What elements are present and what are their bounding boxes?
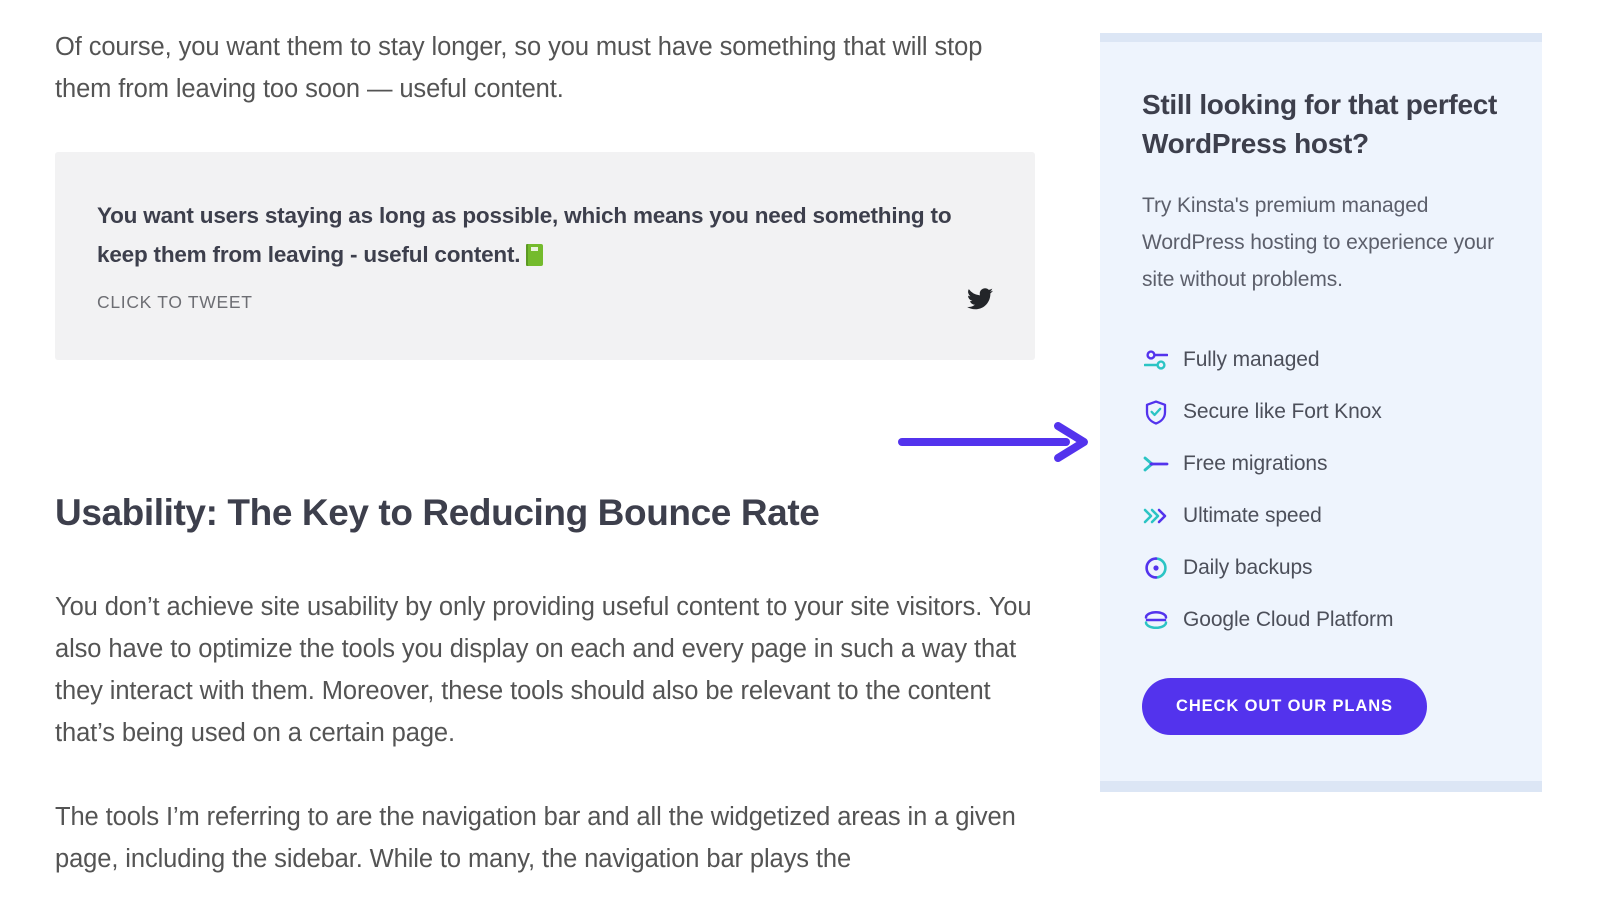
feature-label: Daily backups (1183, 556, 1312, 580)
list-item: Ultimate speed (1142, 490, 1520, 542)
body-paragraph-1-wrapper: You don’t achieve site usability by only… (55, 586, 1040, 754)
double-chevron-icon (1142, 503, 1170, 529)
list-item: Daily backups (1142, 542, 1520, 594)
section-heading: Usability: The Key to Reducing Bounce Ra… (55, 492, 819, 534)
list-item: Secure like Fort Knox (1142, 386, 1520, 438)
body-paragraph-1: You don’t achieve site usability by only… (55, 586, 1040, 754)
click-to-tweet-label[interactable]: CLICK TO TWEET (97, 292, 253, 313)
purple-right-arrow-icon (898, 420, 1090, 464)
feature-label: Free migrations (1183, 452, 1327, 476)
body-paragraph-2: The tools I’m referring to are the navig… (55, 796, 1040, 880)
migration-arrow-icon (1142, 451, 1170, 477)
list-item: Free migrations (1142, 438, 1520, 490)
body-paragraph-2-wrapper: The tools I’m referring to are the navig… (55, 796, 1040, 880)
list-item: Fully managed (1142, 334, 1520, 386)
article-column: Of course, you want them to stay longer,… (55, 0, 1035, 110)
shield-check-icon (1142, 399, 1170, 425)
check-out-our-plans-button[interactable]: CHECK OUT OUR PLANS (1142, 678, 1427, 735)
feature-list: Fully managed Secure like Fort Knox (1142, 334, 1520, 646)
list-item: Google Cloud Platform (1142, 594, 1520, 646)
green-book-emoji (526, 244, 545, 266)
google-cloud-icon (1142, 607, 1170, 633)
feature-label: Secure like Fort Knox (1183, 400, 1382, 424)
kinsta-cta-panel: Still looking for that perfect WordPress… (1100, 33, 1542, 792)
backup-refresh-icon (1142, 555, 1170, 581)
sliders-icon (1142, 347, 1170, 373)
cta-content: Still looking for that perfect WordPress… (1142, 85, 1520, 735)
twitter-bird-icon[interactable] (967, 288, 993, 310)
feature-label: Ultimate speed (1183, 504, 1322, 528)
tweet-quote-string: You want users staying as long as possib… (97, 203, 951, 267)
tweet-quote-text: You want users staying as long as possib… (97, 196, 995, 274)
feature-label: Google Cloud Platform (1183, 608, 1393, 632)
cta-description: Try Kinsta's premium managed WordPress h… (1142, 187, 1497, 298)
click-to-tweet-box[interactable]: You want users staying as long as possib… (55, 152, 1035, 360)
feature-label: Fully managed (1183, 348, 1319, 372)
panel-top-edge (1100, 33, 1542, 42)
intro-paragraph: Of course, you want them to stay longer,… (55, 0, 1035, 110)
cta-title: Still looking for that perfect WordPress… (1142, 85, 1520, 163)
panel-bottom-edge (1100, 781, 1542, 792)
